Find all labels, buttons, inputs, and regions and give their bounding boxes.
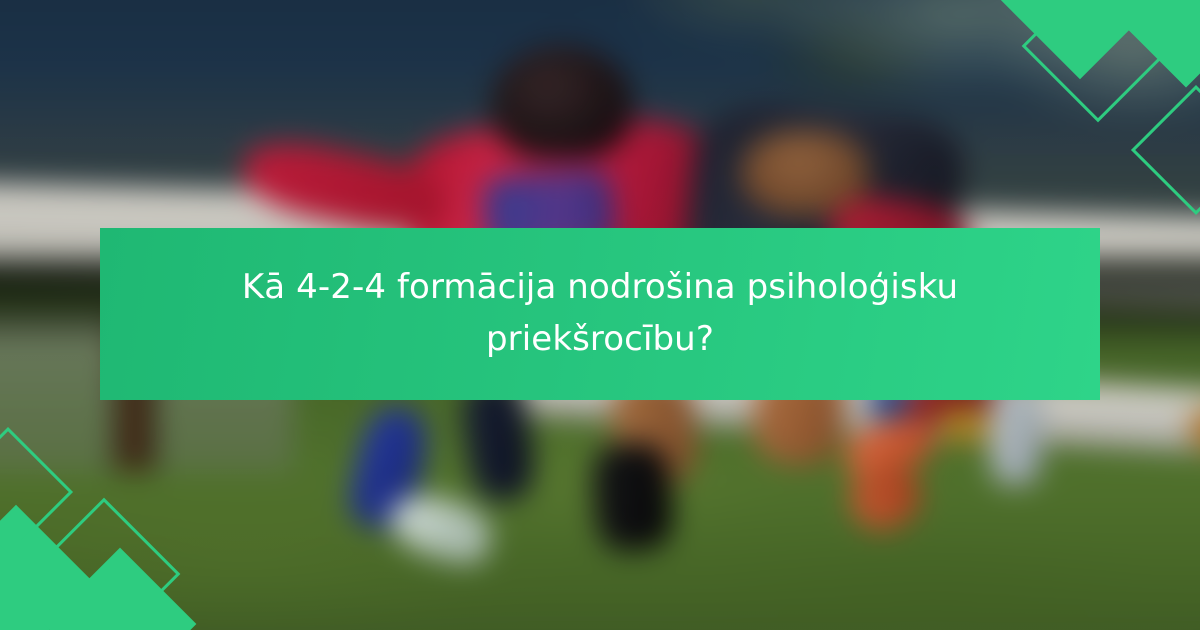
- headline-text: Kā 4-2-4 formācija nodrošina psiholoģisk…: [156, 262, 1044, 365]
- social-share-card: Kā 4-2-4 formācija nodrošina psiholoģisk…: [0, 0, 1200, 630]
- headline-banner: Kā 4-2-4 formācija nodrošina psiholoģisk…: [100, 228, 1100, 400]
